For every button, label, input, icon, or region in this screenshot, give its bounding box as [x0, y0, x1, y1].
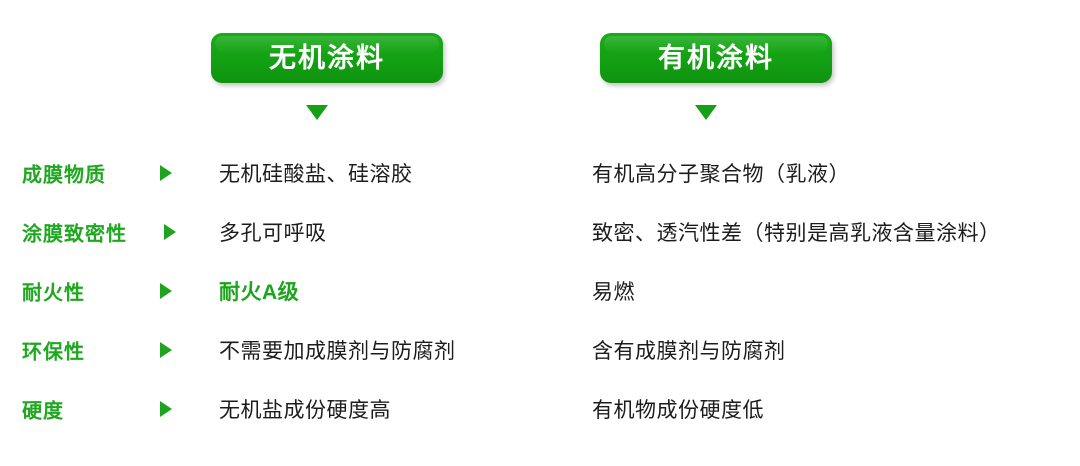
triangle-right-icon — [160, 165, 172, 181]
column-header-organic-label: 有机涂料 — [658, 45, 774, 72]
triangle-right-icon — [160, 283, 172, 299]
cell-organic: 易燃 — [592, 276, 635, 306]
comparison-row: 环保性 不需要加成膜剂与防腐剂 含有成膜剂与防腐剂 — [0, 320, 1080, 379]
cell-inorganic: 多孔可呼吸 — [219, 217, 327, 247]
row-label: 成膜物质 — [22, 158, 106, 187]
row-label: 耐火性 — [22, 276, 85, 305]
column-header-inorganic-label: 无机涂料 — [269, 45, 385, 72]
triangle-right-icon — [164, 224, 176, 240]
cell-organic: 有机物成份硬度低 — [592, 394, 764, 424]
comparison-rows: 成膜物质 无机硅酸盐、硅溶胶 有机高分子聚合物（乳液） 涂膜致密性 多孔可呼吸 … — [0, 143, 1080, 438]
cell-inorganic: 无机盐成份硬度高 — [219, 394, 391, 424]
triangle-down-icon-inorganic — [306, 105, 328, 120]
triangle-right-icon — [160, 342, 172, 358]
comparison-row: 成膜物质 无机硅酸盐、硅溶胶 有机高分子聚合物（乳液） — [0, 143, 1080, 202]
cell-inorganic: 无机硅酸盐、硅溶胶 — [219, 158, 413, 188]
triangle-down-icon-organic — [695, 105, 717, 120]
comparison-row: 耐火性 耐火A级 易燃 — [0, 261, 1080, 320]
comparison-infographic: 无机涂料 有机涂料 成膜物质 无机硅酸盐、硅溶胶 有机高分子聚合物（乳液） 涂膜… — [0, 0, 1080, 466]
cell-organic: 含有成膜剂与防腐剂 — [592, 335, 786, 365]
row-label: 环保性 — [22, 335, 85, 364]
cell-inorganic: 不需要加成膜剂与防腐剂 — [219, 335, 456, 365]
column-header-inorganic: 无机涂料 — [211, 33, 443, 83]
triangle-right-icon — [160, 401, 172, 417]
comparison-row: 涂膜致密性 多孔可呼吸 致密、透汽性差（特别是高乳液含量涂料） — [0, 202, 1080, 261]
comparison-row: 硬度 无机盐成份硬度高 有机物成份硬度低 — [0, 379, 1080, 438]
cell-inorganic: 耐火A级 — [219, 276, 299, 306]
column-header-organic: 有机涂料 — [600, 33, 832, 83]
cell-organic: 致密、透汽性差（特别是高乳液含量涂料） — [592, 217, 1001, 247]
row-label: 硬度 — [22, 394, 64, 423]
row-label: 涂膜致密性 — [22, 217, 127, 246]
cell-organic: 有机高分子聚合物（乳液） — [592, 158, 850, 188]
